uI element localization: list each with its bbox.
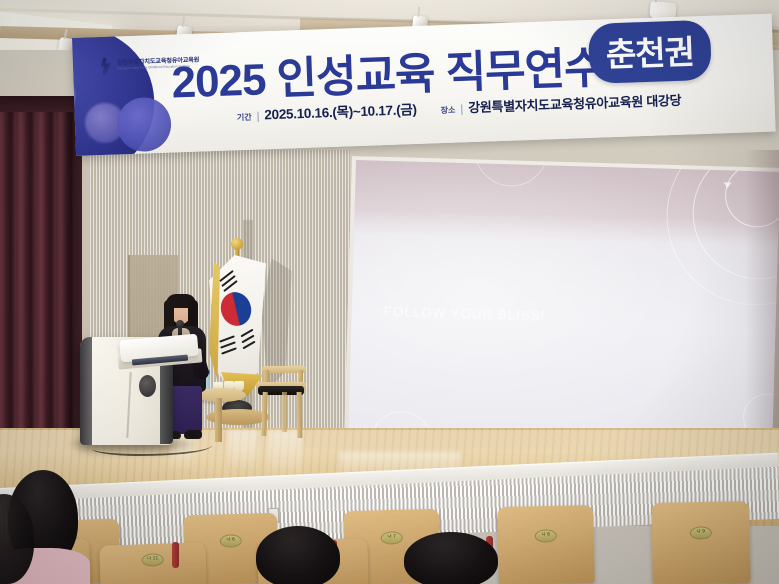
auditorium-seat: 나 8 [497, 505, 595, 584]
stage-curtain-left [0, 100, 82, 460]
projection-screen: FOLLOW YOUR BLISS! [348, 160, 779, 460]
stage-curtain-right-shade [745, 150, 779, 450]
auditorium-seat: 나 9 [651, 501, 750, 584]
period-value: 2025.10.16.(목)~10.17.(금) [264, 98, 417, 123]
institute-mark-icon [101, 57, 114, 74]
seat-number: 나 8 [536, 530, 556, 539]
slide-triangle-marker-icon [723, 182, 731, 188]
auditorium-seat: 나 11 [99, 542, 207, 584]
seat-number-plate: 나 6 [220, 534, 242, 548]
period-label: 기간 [237, 112, 252, 124]
region-badge: 춘천권 [588, 20, 712, 84]
seat-armrest [172, 542, 179, 568]
period-divider: | [256, 111, 259, 123]
stage-curtain-top-rail [0, 96, 82, 112]
seat-number: 나 11 [143, 554, 163, 564]
seat-number-plate: 나 8 [535, 529, 557, 542]
podium-speaker-grille-icon [139, 375, 156, 397]
place-divider: | [460, 103, 463, 115]
seat-number-plate: 나 11 [142, 553, 164, 567]
podium-left-edge [80, 337, 92, 445]
wooden-chair-leg [282, 392, 287, 432]
seat-number: 나 7 [382, 532, 402, 541]
audience-member-head [404, 532, 498, 584]
seat-number: 나 9 [691, 527, 711, 536]
seat-number: 나 6 [221, 535, 241, 545]
seat-number-plate: 나 7 [381, 531, 403, 545]
banner-sphere-graphic [116, 97, 172, 153]
flag-finial-icon [231, 238, 243, 250]
microphone-head-icon [176, 320, 184, 328]
seat-number-plate: 나 9 [690, 526, 712, 539]
lecture-hall-photo: FOLLOW YOUR BLISS! 강원특별자치도교육청유아교육원 Gangw… [0, 0, 779, 584]
place-label: 장소 [441, 105, 456, 117]
wooden-chair-leg [297, 392, 303, 438]
audience-member-head [256, 526, 340, 584]
side-table-leg [215, 398, 222, 442]
event-banner: 강원특별자치도교육청유아교육원 Gangwon State Early Chil… [72, 14, 776, 156]
floor-reflection [228, 430, 258, 476]
